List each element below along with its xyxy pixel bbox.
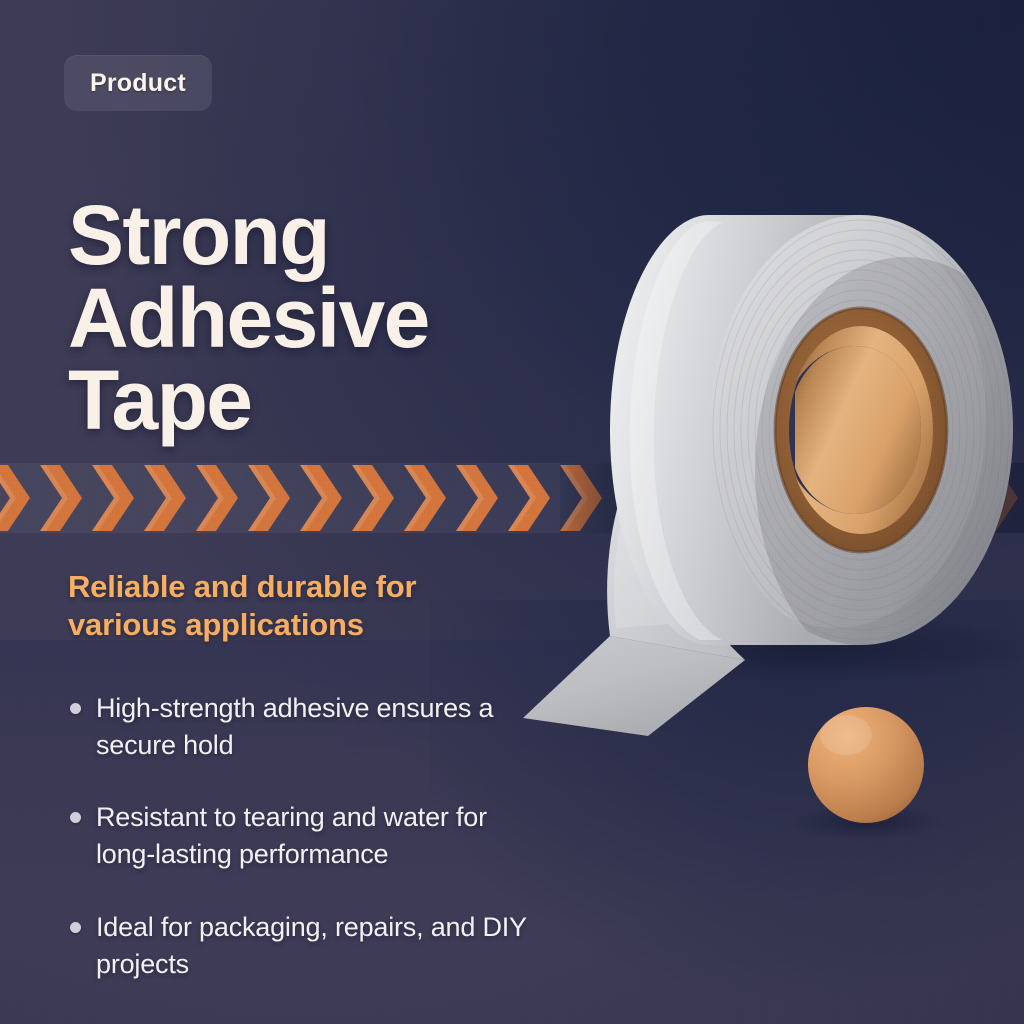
list-item-label: Resistant to tearing and water for long-… (96, 802, 487, 869)
page-title-line-1: Strong (68, 194, 588, 276)
bullet-dot-icon (70, 703, 81, 714)
page-subtitle-line-1: Reliable and durable for (68, 568, 488, 606)
page-subtitle: Reliable and durable for various applica… (68, 568, 488, 645)
bullet-dot-icon (70, 922, 81, 933)
page-subtitle-line-2: various applications (68, 606, 488, 644)
page-title: Strong Adhesive Tape (68, 194, 588, 441)
bullet-dot-icon (70, 812, 81, 823)
page-title-line-2: Adhesive (68, 277, 588, 359)
product-badge[interactable]: Product (64, 55, 212, 111)
list-item: Ideal for packaging, repairs, and DIY pr… (66, 909, 536, 982)
product-poster: Product Strong Adhesive Tape Reliable an… (0, 0, 1024, 1024)
product-badge-label: Product (90, 69, 186, 98)
list-item-label: High-strength adhesive ensures a secure … (96, 693, 493, 760)
list-item: Resistant to tearing and water for long-… (66, 799, 536, 872)
list-item-label: Ideal for packaging, repairs, and DIY pr… (96, 912, 526, 979)
list-item: High-strength adhesive ensures a secure … (66, 690, 536, 763)
feature-list: High-strength adhesive ensures a secure … (66, 690, 536, 982)
page-title-line-3: Tape (68, 359, 588, 441)
